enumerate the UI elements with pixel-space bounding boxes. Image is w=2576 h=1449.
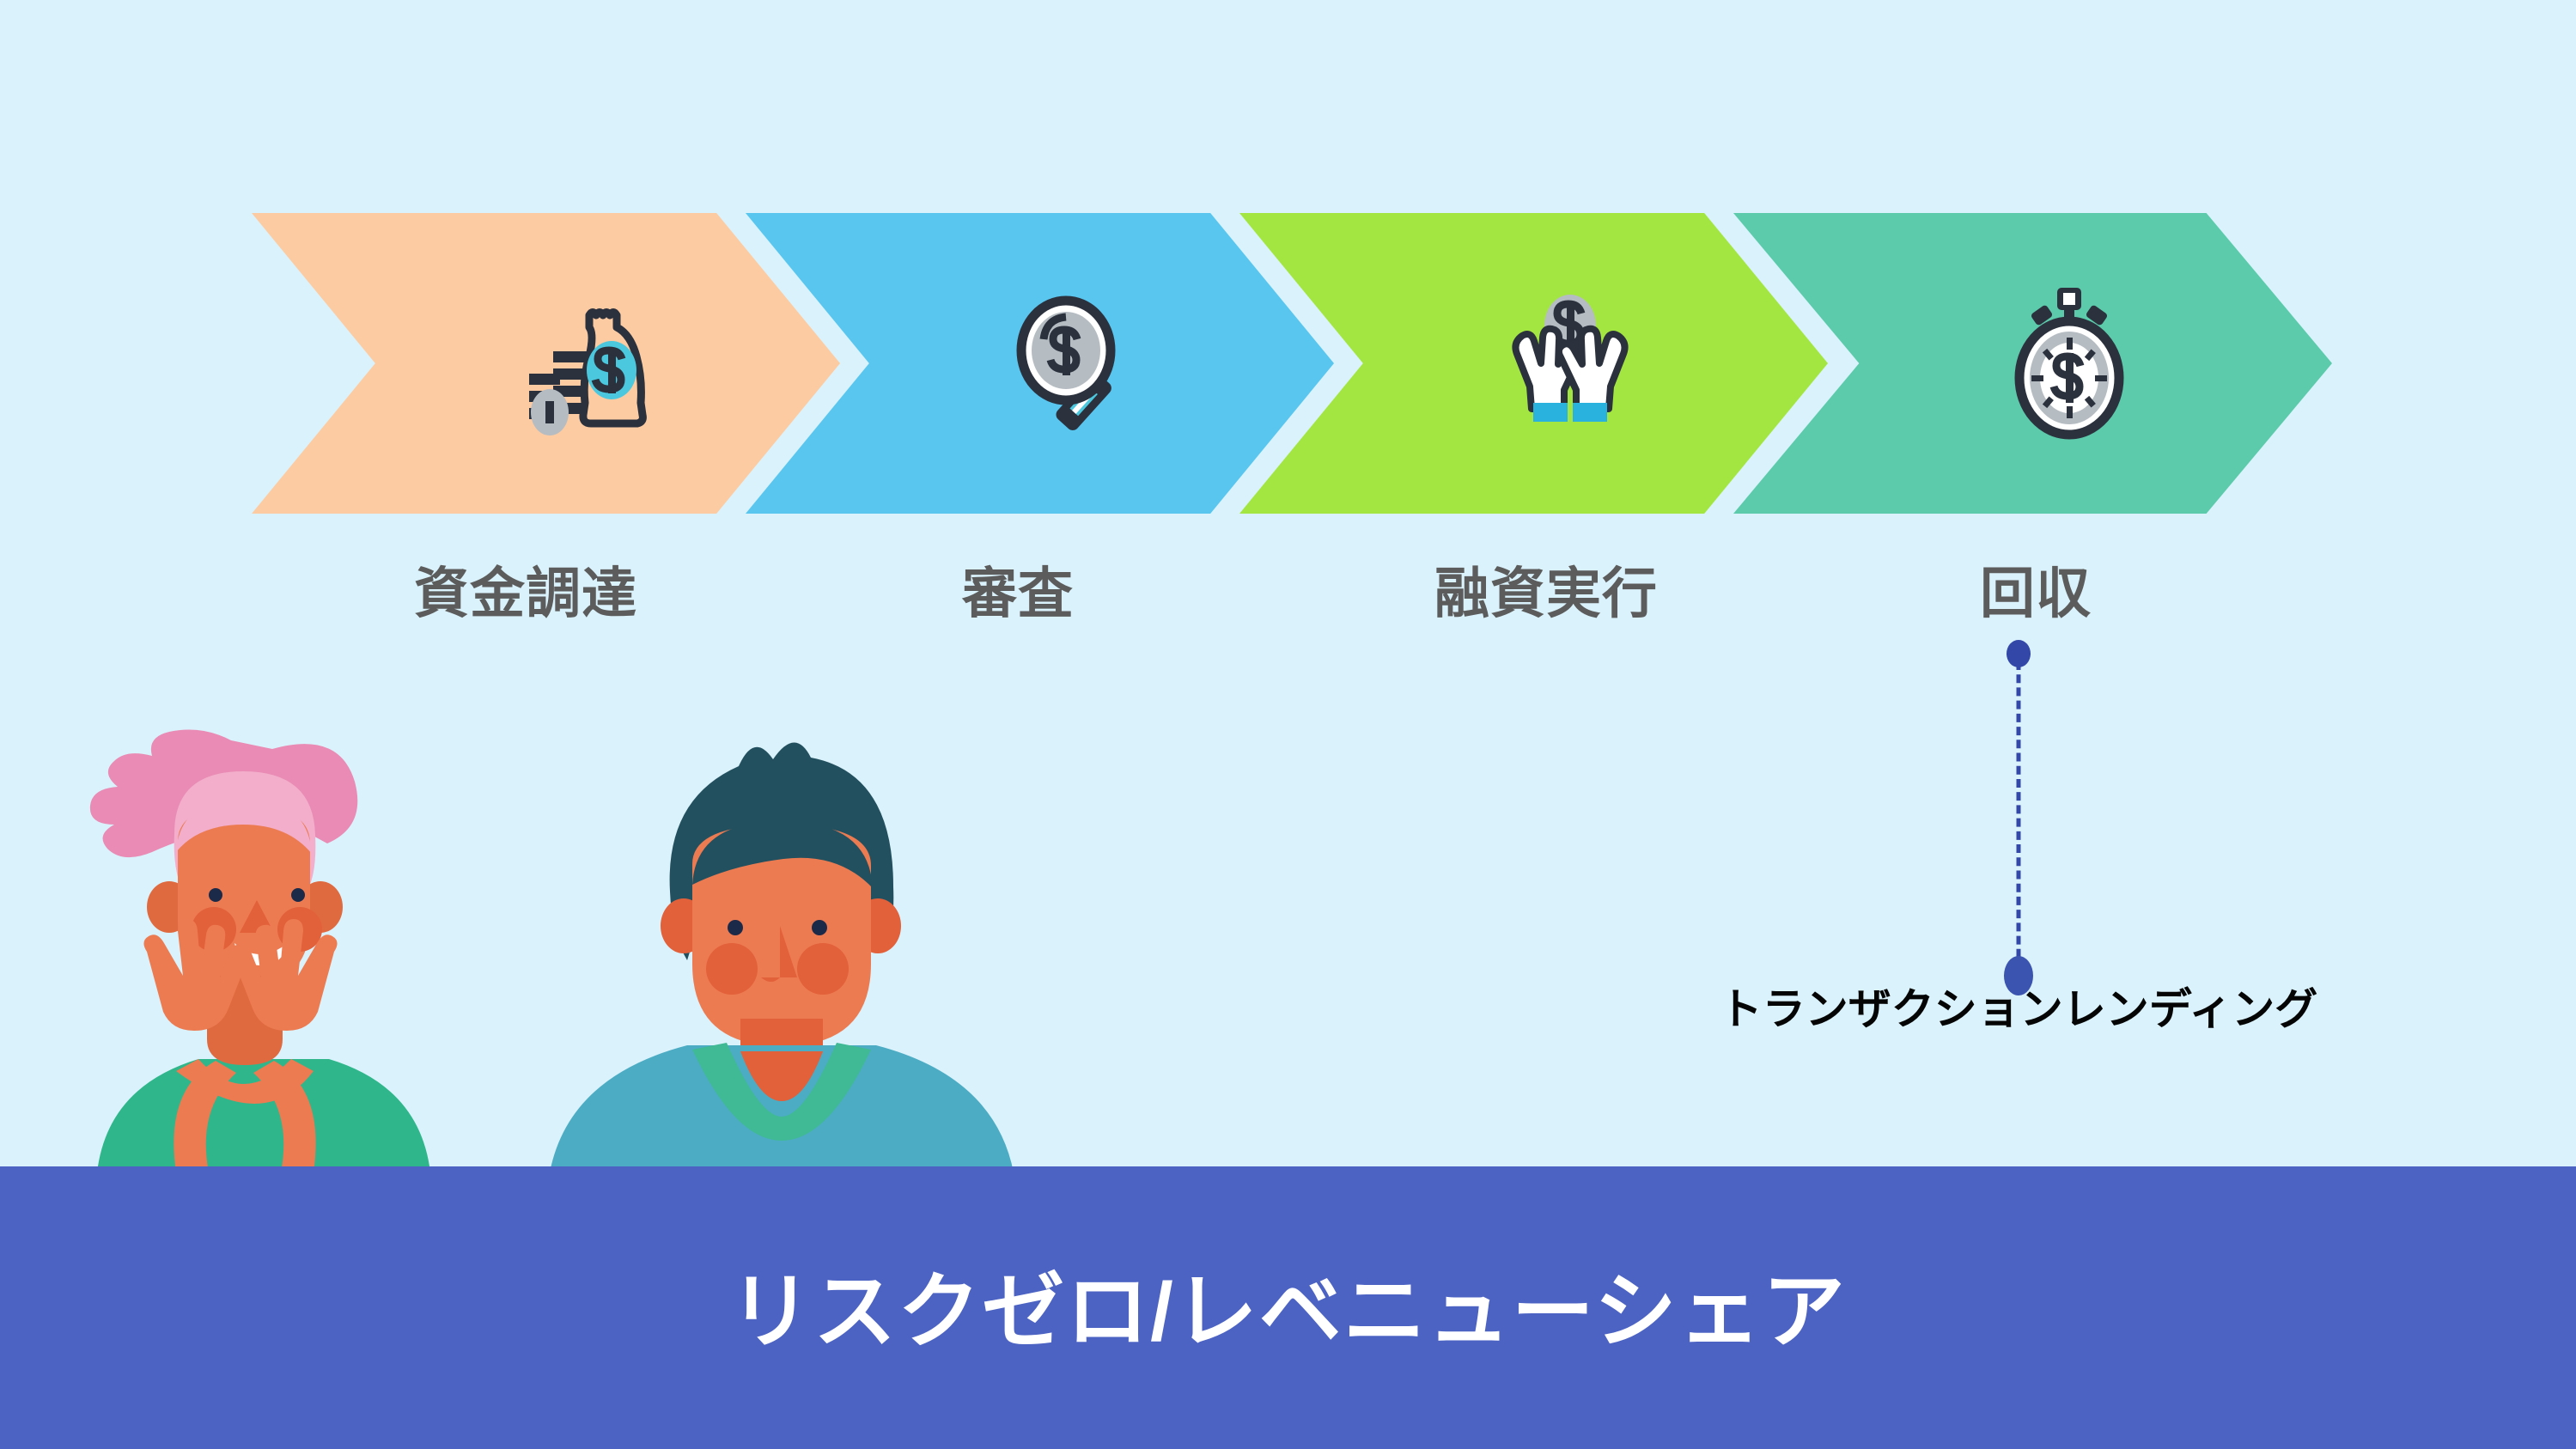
process-step-3-label: 融資実行	[1434, 550, 1658, 629]
slide-canvas: 資金調達 審査 融資実行 回収 トランザクションレンディング	[0, 0, 2576, 1449]
people-illustration-group	[0, 704, 1031, 1172]
process-step-1-chevron[interactable]	[252, 213, 840, 514]
banner-title: リスクゼロ/レベニューシェア	[729, 1245, 1847, 1364]
avatar-woman	[47, 704, 434, 1172]
bottom-banner: リスクゼロ/レベニューシェア	[0, 1166, 2576, 1449]
callout-label: トランザクションレンディング	[1720, 975, 2318, 1037]
money-bag-icon	[496, 277, 668, 449]
hands-holding-coin-icon	[1484, 277, 1656, 449]
magnifier-coin-icon	[990, 277, 1162, 449]
avatar-man	[524, 713, 1031, 1172]
process-flow	[0, 213, 2576, 514]
process-step-1-label: 資金調達	[414, 550, 637, 629]
callout-dashed-line	[2017, 661, 2021, 971]
process-step-4-label: 回収	[1980, 550, 2092, 629]
process-step-2-label: 審査	[962, 550, 1074, 629]
stopwatch-dollar-icon	[1983, 277, 2155, 449]
